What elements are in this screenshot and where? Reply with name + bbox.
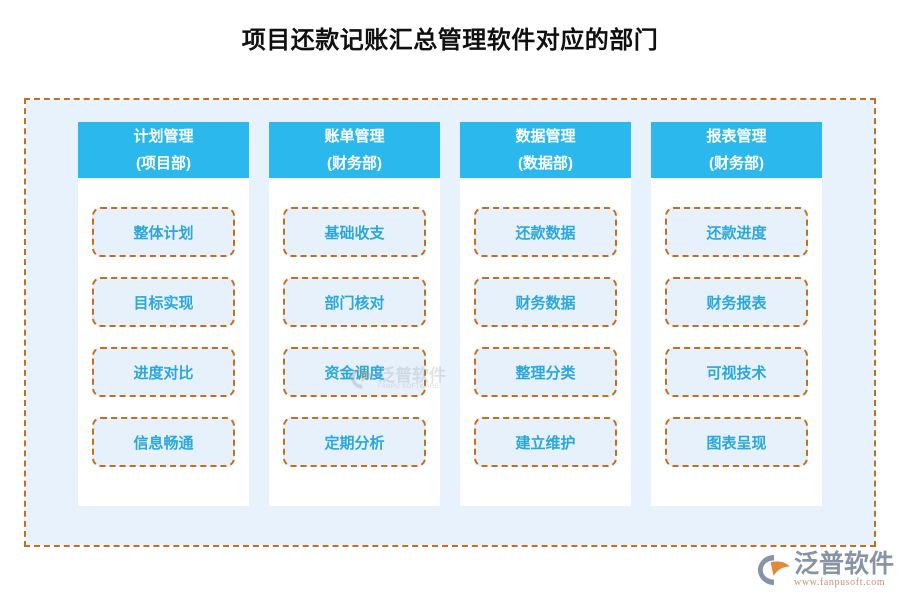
fanpu-logo-url: www.fanpusoft.com xyxy=(794,577,894,589)
column-items-4: 还款进度 财务报表 可视技术 图表呈现 xyxy=(665,178,808,467)
fanpu-logo-name: 泛普软件 xyxy=(794,551,894,577)
column-items-3: 还款数据 财务数据 整理分类 建立维护 xyxy=(474,178,617,467)
item-box[interactable]: 定期分析 xyxy=(283,417,426,467)
item-box[interactable]: 还款进度 xyxy=(665,207,808,257)
column-card-3: 数据管理 (数据部) 还款数据 财务数据 整理分类 建立维护 xyxy=(460,122,631,506)
columns-container: 计划管理 (项目部) 整体计划 目标实现 进度对比 信息畅通 账单管理 (财务部… xyxy=(78,122,822,506)
column-header-3: 数据管理 (数据部) xyxy=(460,122,631,178)
column-header-3-line2: (数据部) xyxy=(518,150,573,177)
fanpu-logo-icon xyxy=(757,554,791,586)
item-box[interactable]: 图表呈现 xyxy=(665,417,808,467)
item-box[interactable]: 整理分类 xyxy=(474,347,617,397)
column-header-2: 账单管理 (财务部) xyxy=(269,122,440,178)
item-box[interactable]: 进度对比 xyxy=(92,347,235,397)
column-header-1-line2: (项目部) xyxy=(136,150,191,177)
column-header-1-line1: 计划管理 xyxy=(133,123,193,150)
item-box[interactable]: 基础收支 xyxy=(283,207,426,257)
column-header-1: 计划管理 (项目部) xyxy=(78,122,249,178)
column-header-2-line1: 账单管理 xyxy=(324,123,384,150)
column-header-2-line2: (财务部) xyxy=(327,150,382,177)
column-items-2: 基础收支 部门核对 资金调度 定期分析 xyxy=(283,178,426,467)
item-box[interactable]: 信息畅通 xyxy=(92,417,235,467)
item-box[interactable]: 目标实现 xyxy=(92,277,235,327)
column-header-4-line1: 报表管理 xyxy=(706,123,766,150)
column-card-2: 账单管理 (财务部) 基础收支 部门核对 资金调度 定期分析 xyxy=(269,122,440,506)
column-header-4-line2: (财务部) xyxy=(709,150,764,177)
item-box[interactable]: 整体计划 xyxy=(92,207,235,257)
column-items-1: 整体计划 目标实现 进度对比 信息畅通 xyxy=(92,178,235,467)
item-box[interactable]: 财务报表 xyxy=(665,277,808,327)
column-card-4: 报表管理 (财务部) 还款进度 财务报表 可视技术 图表呈现 xyxy=(651,122,822,506)
item-box[interactable]: 财务数据 xyxy=(474,277,617,327)
column-card-1: 计划管理 (项目部) 整体计划 目标实现 进度对比 信息畅通 xyxy=(78,122,249,506)
column-header-4: 报表管理 (财务部) xyxy=(651,122,822,178)
page-title: 项目还款记账汇总管理软件对应的部门 xyxy=(0,26,900,56)
item-box[interactable]: 还款数据 xyxy=(474,207,617,257)
column-header-3-line1: 数据管理 xyxy=(515,123,575,150)
fanpu-logo: 泛普软件 www.fanpusoft.com xyxy=(757,546,897,594)
item-box[interactable]: 资金调度 xyxy=(283,347,426,397)
item-box[interactable]: 建立维护 xyxy=(474,417,617,467)
fanpu-logo-text: 泛普软件 www.fanpusoft.com xyxy=(794,551,894,589)
item-box[interactable]: 部门核对 xyxy=(283,277,426,327)
item-box[interactable]: 可视技术 xyxy=(665,347,808,397)
